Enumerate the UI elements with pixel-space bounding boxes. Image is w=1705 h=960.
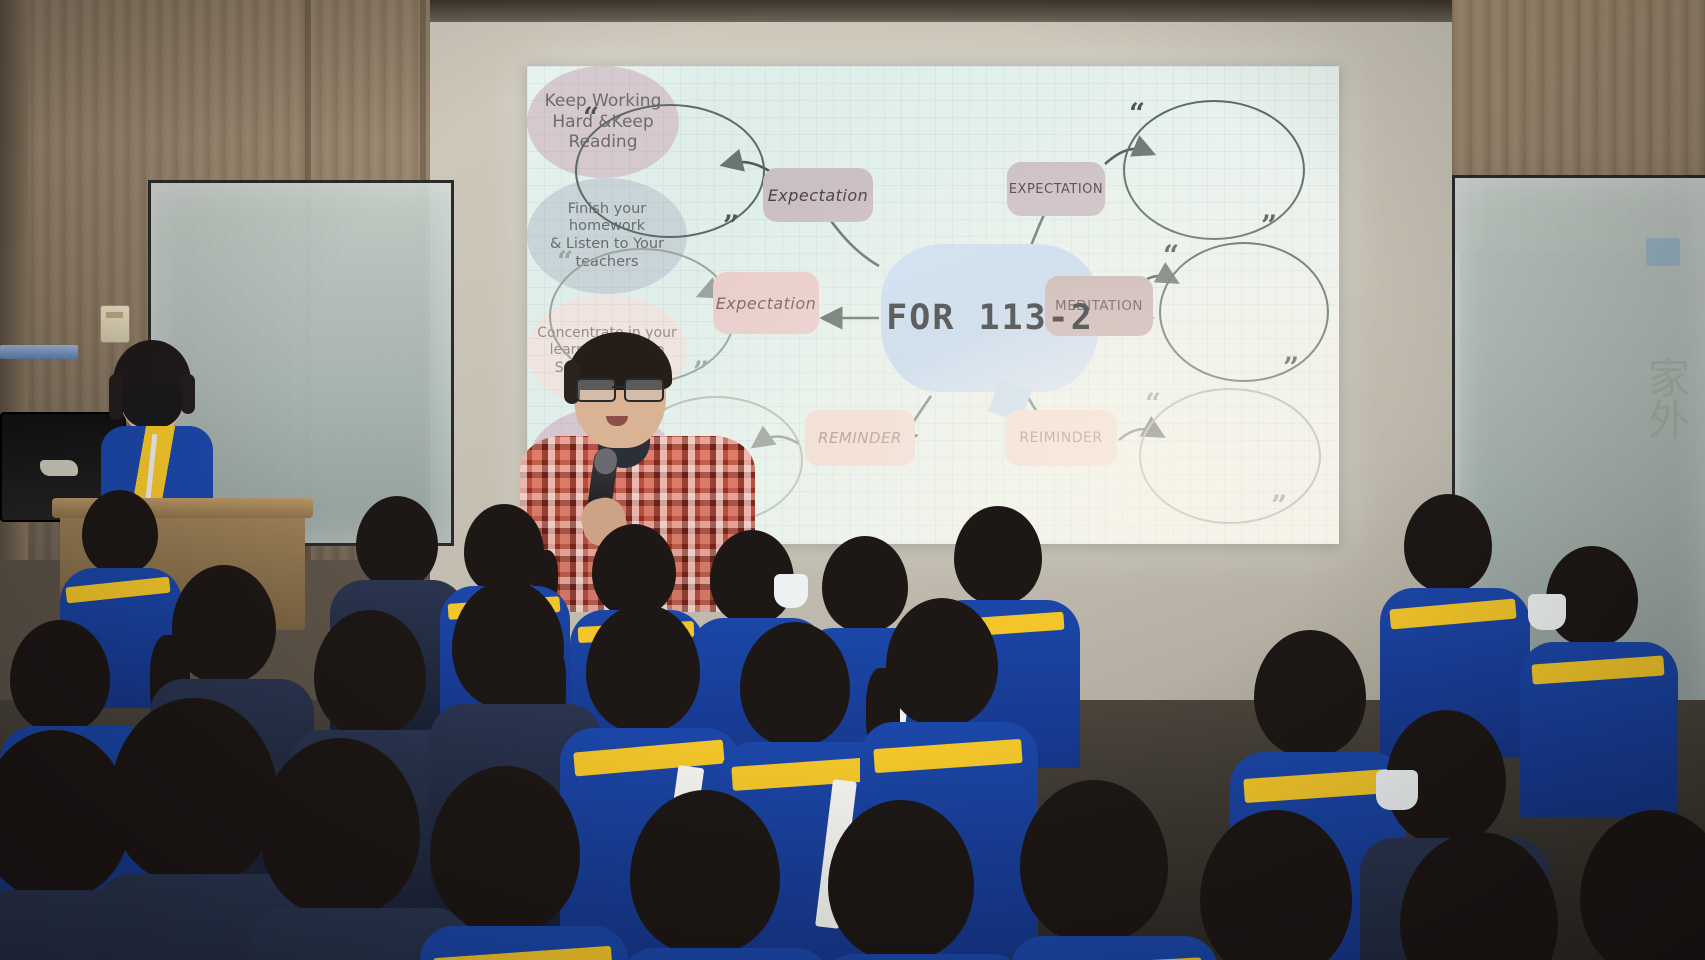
door-sticker-icon (1646, 238, 1680, 266)
ceiling-strip (430, 0, 1460, 22)
chip-reminder-left: REMINDER (805, 410, 915, 466)
wall-rail (0, 345, 78, 359)
quote-open-icon: “ (583, 110, 599, 127)
monitor-logo-icon (40, 460, 78, 476)
quote-open-icon: “ (1163, 248, 1179, 265)
chip-reiminder-right: REIMINDER (1005, 410, 1117, 466)
chip-expectation-upper: EXPECTATION (1007, 162, 1105, 216)
glasses-icon (576, 378, 664, 398)
quote-open-icon: “ (1129, 106, 1145, 123)
quote-close-icon: ” (1283, 360, 1299, 377)
quote-open-icon: “ (1145, 396, 1161, 413)
assembly-photo-scene: 家外 (0, 0, 1705, 960)
door-sign-text: 家外 (1648, 358, 1690, 442)
chip-expectation-top: Expectation (763, 168, 873, 222)
quote-close-icon: ” (723, 218, 739, 235)
student-audience: WMEN (0, 480, 1705, 960)
quote-close-icon: ” (1261, 218, 1277, 235)
quote-open-icon: “ (557, 254, 573, 271)
chip-expectation-left: Expectation (713, 272, 819, 334)
slide-center-title: FOR 113-2 (886, 298, 1094, 338)
slide-center-node: FOR 113-2 (881, 244, 1099, 392)
face-mask (121, 386, 183, 428)
